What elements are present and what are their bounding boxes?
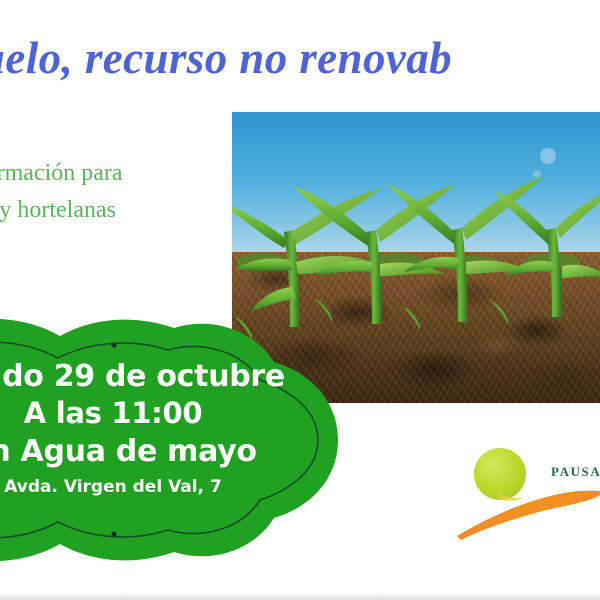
event-date: ábado 29 de octubre (0, 360, 346, 394)
lens-flare (533, 170, 541, 178)
subtitle-line-2: nos y hortelanas (0, 192, 260, 229)
event-address: Avda. Virgen del Val, 7 (0, 472, 346, 502)
corn-plant (388, 176, 544, 322)
page-title: suelo, recurso no renovab (0, 30, 600, 86)
lens-flare (540, 148, 556, 164)
event-details: ábado 29 de octubre A las 11:00 en Agua … (0, 360, 346, 502)
subtitle-line-1: e formación para (0, 160, 123, 186)
poster-canvas: suelo, recurso no renovab e formación pa… (0, 0, 600, 600)
corn-plant (294, 184, 456, 324)
blob-dot-bottom (111, 531, 116, 536)
bottom-edge-band (0, 592, 600, 600)
event-place: en Agua de mayo (0, 432, 346, 472)
logo-wordmark: PAUSA (551, 464, 600, 480)
pausa-logo (455, 440, 600, 550)
event-time: A las 11:00 (0, 394, 346, 432)
logo-swoosh-icon (457, 491, 600, 540)
subtitle-block: e formación para nos y hortelanas (0, 155, 260, 229)
corn-plant (494, 188, 600, 317)
logo-circle-icon (474, 448, 526, 500)
blob-dot-top (111, 342, 116, 347)
